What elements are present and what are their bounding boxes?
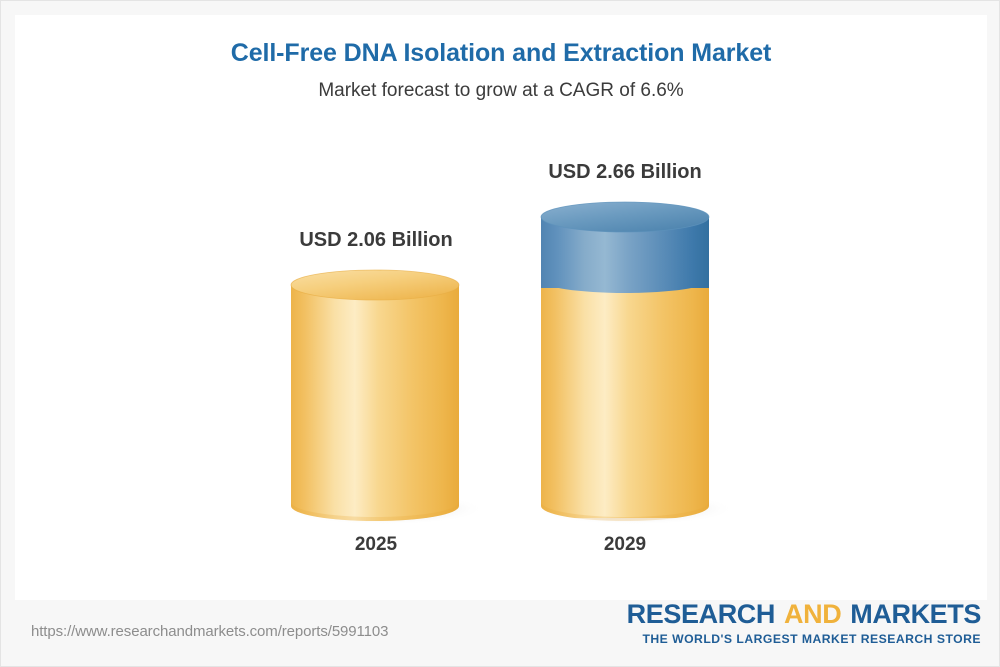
brand-logo[interactable]: RESEARCHANDMARKETS THE WORLD'S LARGEST M… <box>627 601 981 645</box>
plot-canvas <box>15 15 987 600</box>
brand-word-markets: MARKETS <box>850 599 981 629</box>
bar-category-label-2029: 2029 <box>465 534 785 556</box>
bar-value-label-2025: USD 2.06 Billion <box>216 229 536 252</box>
brand-tagline: THE WORLD'S LARGEST MARKET RESEARCH STOR… <box>627 633 981 645</box>
brand-word-research: RESEARCH <box>627 599 775 629</box>
bar-value-label-2029: USD 2.66 Billion <box>465 161 785 184</box>
infographic-chart-card: Cell-Free DNA Isolation and Extraction M… <box>0 0 1000 667</box>
page-title: Cell-Free DNA Isolation and Extraction M… <box>1 39 1000 67</box>
bar-cylinder-2025 <box>279 259 479 527</box>
chart-header: Cell-Free DNA Isolation and Extraction M… <box>1 39 1000 101</box>
bar-cylinder-2029 <box>529 191 729 527</box>
brand-wordmark: RESEARCHANDMARKETS <box>627 601 981 628</box>
chart-subtitle: Market forecast to grow at a CAGR of 6.6… <box>1 80 1000 101</box>
brand-word-and: AND <box>784 599 841 629</box>
report-url[interactable]: https://www.researchandmarkets.com/repor… <box>31 623 388 640</box>
